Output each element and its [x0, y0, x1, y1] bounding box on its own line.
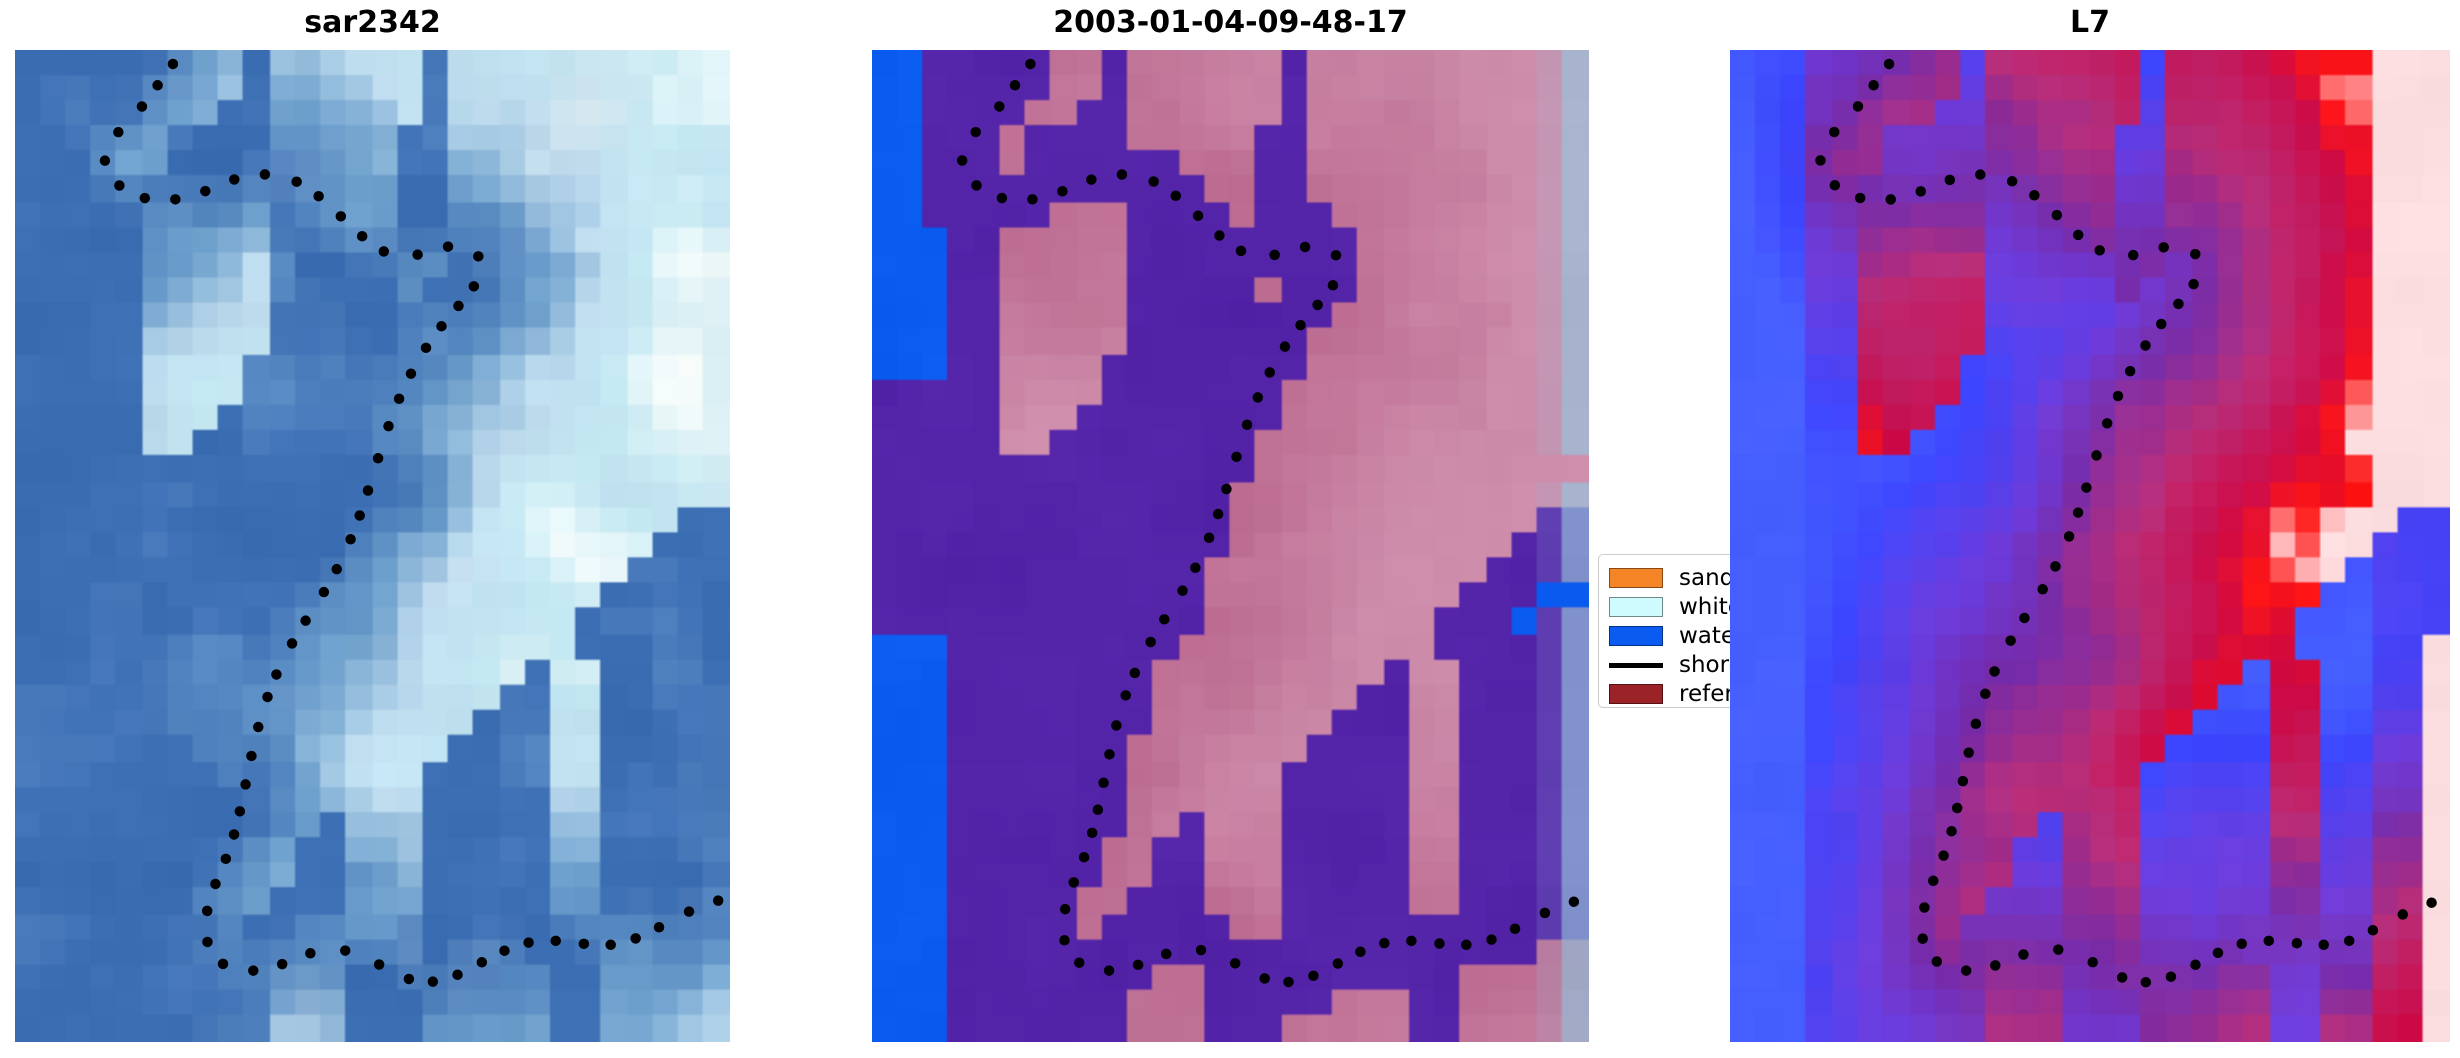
panel-title-classification: 2003-01-04-09-48-17: [872, 6, 1589, 40]
legend-swatch-whitewater: [1609, 597, 1663, 617]
raster-classification: [872, 50, 1589, 1042]
legend-swatch-sand: [1609, 568, 1663, 588]
panel-title-sar: sar2342: [15, 6, 730, 40]
legend-label-sand: sand: [1679, 565, 1734, 591]
panel-l7-image: [1730, 50, 2450, 1042]
panel-title-l7: L7: [1730, 6, 2450, 40]
legend-swatch-reference: [1609, 684, 1663, 704]
raster-l7: [1730, 50, 2450, 1042]
figure-canvas: sar2342 2003-01-04-09-48-17 L7 sand whit…: [0, 0, 2460, 1058]
legend-swatch-water: [1609, 626, 1663, 646]
panel-classification-image: [872, 50, 1589, 1042]
raster-sar: [15, 50, 730, 1042]
panel-sar-image: [15, 50, 730, 1042]
legend-swatch-shoreline: [1609, 655, 1663, 675]
